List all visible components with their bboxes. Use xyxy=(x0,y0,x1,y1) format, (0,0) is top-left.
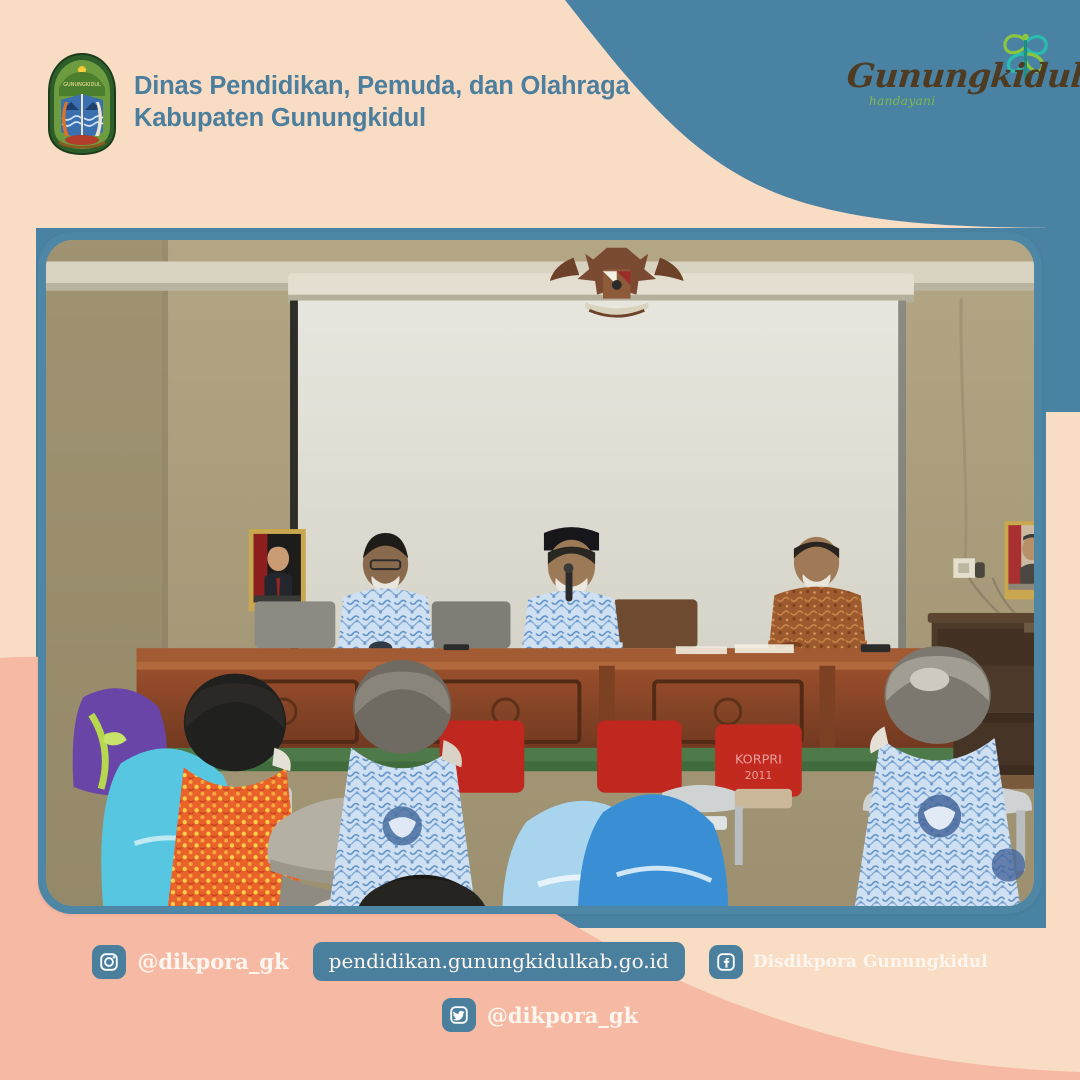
photo-frame: KORPRI 2011 xyxy=(38,232,1042,914)
website-badge[interactable]: pendidikan.gunungkidulkab.go.id xyxy=(313,942,685,981)
instagram-icon[interactable] xyxy=(92,945,126,979)
instagram-handle: @dikpora_gk xyxy=(137,949,288,974)
twitter-handle: @dikpora_gk xyxy=(487,1003,638,1028)
twitter-icon[interactable] xyxy=(442,998,476,1032)
gunungkidul-regency-crest-icon: GUNUNGKIDUL xyxy=(45,52,119,156)
poster-canvas: GUNUNGKIDUL Dinas Pendidikan, Pemuda, da… xyxy=(0,0,1080,1080)
svg-text:KORPRI: KORPRI xyxy=(735,752,782,767)
president-portrait xyxy=(249,529,306,611)
svg-text:GUNUNGKIDUL: GUNUNGKIDUL xyxy=(63,82,101,88)
facebook-link[interactable]: Disdikpora Gunungkidul xyxy=(709,945,988,979)
svg-text:2011: 2011 xyxy=(745,769,773,782)
brand-wordmark: Gunungkidul xyxy=(845,56,1028,95)
poster-header: GUNUNGKIDUL Dinas Pendidikan, Pemuda, da… xyxy=(0,0,1080,200)
social-row-secondary: @dikpora_gk xyxy=(0,998,1080,1032)
instagram-link[interactable]: @dikpora_gk xyxy=(92,945,288,979)
social-row-primary: @dikpora_gk pendidikan.gunungkidulkab.go… xyxy=(0,942,1080,981)
poster-footer: @dikpora_gk pendidikan.gunungkidulkab.go… xyxy=(0,930,1080,1080)
title-line-2: Kabupaten Gunungkidul xyxy=(134,102,629,134)
meeting-hall-photograph: KORPRI 2011 xyxy=(46,240,1034,906)
facebook-page-name: Disdikpora Gunungkidul xyxy=(753,952,988,972)
page-title: Dinas Pendidikan, Pemuda, dan Olahraga K… xyxy=(134,70,629,134)
brand-tagline: handayani xyxy=(869,94,936,108)
facebook-icon[interactable] xyxy=(709,945,743,979)
title-line-1: Dinas Pendidikan, Pemuda, dan Olahraga xyxy=(134,70,629,102)
gunungkidul-handayani-logo: Gunungkidul handayani xyxy=(847,28,1062,128)
vice-president-portrait xyxy=(1004,521,1034,599)
twitter-link[interactable]: @dikpora_gk xyxy=(442,998,638,1032)
